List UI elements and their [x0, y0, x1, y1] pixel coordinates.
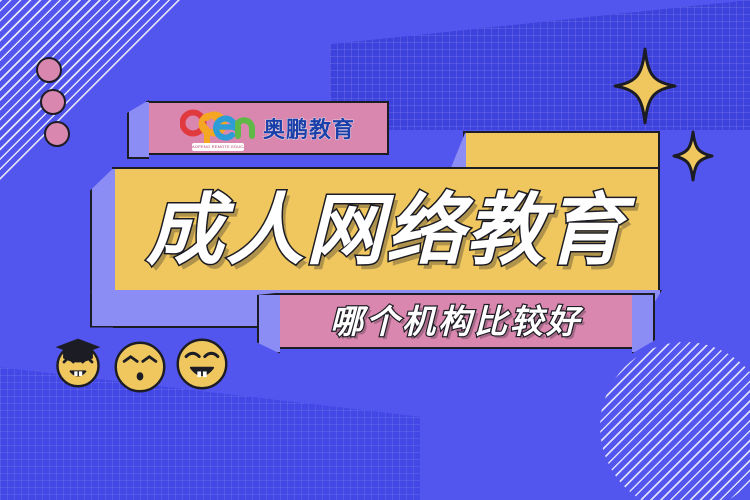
page-subtitle: 哪个机构比较好 [330, 305, 582, 338]
promo-banner: AOPENG REMOTE EDUCATION 奥鹏教育 成人网络教育 哪个机构… [0, 0, 750, 500]
subtitle-plate-right-face [632, 293, 655, 354]
logo-wordmark: 奥鹏教育 [263, 112, 355, 144]
subtitle-plate-left-face [257, 293, 280, 354]
logo-plate: AOPENG REMOTE EDUCATION 奥鹏教育 [146, 101, 389, 155]
page-title: 成人网络教育 [146, 191, 626, 269]
subtitle-plate: 哪个机构比较好 [277, 293, 635, 349]
brand-logo: AOPENG REMOTE EDUCATION 奥鹏教育 [180, 106, 355, 150]
logo-tagline: AOPENG REMOTE EDUCATION [192, 143, 244, 151]
emoji-happy-icon [174, 336, 230, 392]
emoji-surprised-icon [112, 339, 168, 395]
logo-plate-side-face [127, 100, 149, 159]
headline-plate: 成人网络教育 [112, 167, 660, 293]
emoji-graduate-icon [50, 334, 106, 390]
open-logo-mark-icon: AOPENG REMOTE EDUCATION [180, 106, 256, 150]
banner-stack: AOPENG REMOTE EDUCATION 奥鹏教育 成人网络教育 哪个机构… [0, 0, 750, 500]
